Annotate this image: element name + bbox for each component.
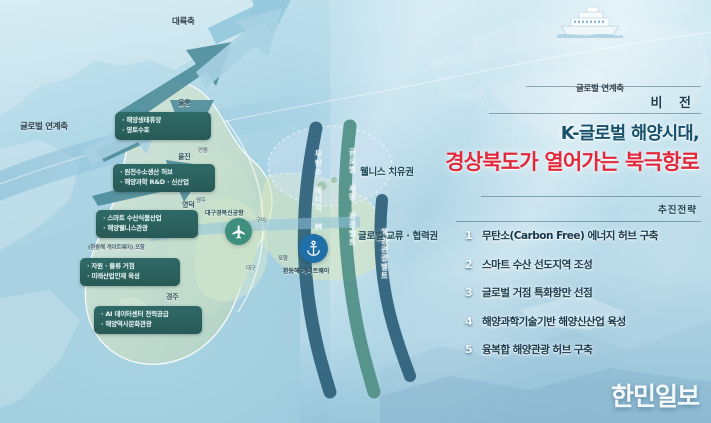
region-tag-ulleung: 울릉 xyxy=(178,98,190,108)
region-tag-yeongju: 영주 xyxy=(196,196,206,204)
belt-label-marine-tourism: 해양관광벨트 xyxy=(379,228,390,348)
callout-uljin[interactable]: 원전수소생산 허브 해양과학 R&D · 신산업 xyxy=(113,164,215,192)
strategy-item-3[interactable]: 3 글로벌 거점 특화항만 선점 xyxy=(465,285,705,300)
airplane-icon xyxy=(231,224,247,240)
callout-ulleung-line-2: 영토수호 xyxy=(122,126,204,136)
strategy-item-2[interactable]: 2 스마트 수산 선도지역 조성 xyxy=(465,257,705,272)
divider-above-strategy xyxy=(481,196,701,197)
vision-title-line-2: 경상북도가 열어가는 북극항로 xyxy=(445,146,699,176)
callout-uljin-line-2: 해양과학 R&D · 신산업 xyxy=(120,178,208,188)
callout-pohang-line-2: 미래산업인재 육성 xyxy=(87,272,173,282)
divider-below-vision xyxy=(489,113,701,114)
strategy-text-1: 무탄소(Carbon Free) 에너지 허브 구축 xyxy=(482,228,658,243)
callout-gyeongju-line-1: AI 데이터센터 전력공급 xyxy=(101,310,195,320)
gateway-city-label: 포항 xyxy=(278,254,288,262)
region-tag-gyeongju: 경주 xyxy=(166,292,178,302)
strategy-number-2: 2 xyxy=(465,258,482,271)
callout-pohang[interactable]: 자원 · 물류 거점 미래산업인재 육성 xyxy=(80,258,180,286)
region-tag-gumi: 구미 xyxy=(256,216,266,224)
gateway-label: 환동해 게이트웨이 xyxy=(283,266,329,275)
divider-below-strategy xyxy=(456,221,701,222)
strategy-number-5: 5 xyxy=(465,343,482,356)
strategy-heading: 추진전략 xyxy=(658,202,697,216)
anchor-icon xyxy=(305,240,322,257)
zone-label-wellness-healing: 웰니스 치유권 xyxy=(360,164,414,178)
strategy-text-5: 융복합 해양관광 허브 구축 xyxy=(482,342,592,357)
region-tag-uljin: 울진 xyxy=(178,152,190,162)
airport-label: 대구경북신공항 xyxy=(205,208,244,217)
gateway-badge[interactable] xyxy=(299,234,328,263)
cruise-ship-icon xyxy=(557,4,623,38)
zone-label-global-exchange-cooperation: 글로벌 교류 · 협력권 xyxy=(358,228,438,242)
infographic-root: 대륙축 글로벌 연계축 글로벌 연계축 울릉 울진 영덕 (환동해 게이트웨이)… xyxy=(0,0,711,423)
callout-yeongdeok-line-2: 해양웰니스관광 xyxy=(103,224,191,234)
vision-heading: 비 전 xyxy=(651,92,697,111)
strategy-text-4: 해양과학기술기반 해양신산업 육성 xyxy=(482,314,626,329)
label-continental-axis: 대륙축 xyxy=(172,15,195,27)
strategy-item-5[interactable]: 5 융복합 해양관광 허브 구축 xyxy=(465,342,705,357)
belt-label-global-sea-route-tourism: 글로벌 세망 관광벨트 xyxy=(347,148,358,338)
callout-gyeongju[interactable]: AI 데이터센터 전력공급 해양역사문화관광 xyxy=(94,306,202,334)
callout-uljin-line-1: 원전수소생산 허브 xyxy=(120,168,208,178)
label-global-link-axis-left: 글로벌 연계축 xyxy=(20,120,68,132)
airport-badge[interactable] xyxy=(225,218,252,245)
callout-gyeongju-line-2: 해양역사문화관광 xyxy=(101,320,195,330)
callout-ulleung[interactable]: 해양생태휴양 영토수호 xyxy=(115,112,211,140)
region-tag-yeongdeok: 영덕 xyxy=(182,200,194,210)
region-tag-andong: 안동 xyxy=(198,146,208,154)
callout-yeongdeok[interactable]: 스마트 수산식품산업 해양웰니스관광 xyxy=(96,210,198,238)
callout-yeongdeok-line-1: 스마트 수산식품산업 xyxy=(103,214,191,224)
strategy-text-2: 스마트 수산 선도지역 조성 xyxy=(482,257,592,272)
callout-ulleung-line-1: 해양생태휴양 xyxy=(122,116,204,126)
strategy-item-1[interactable]: 1 무탄소(Carbon Free) 에너지 허브 구축 xyxy=(465,228,705,243)
publisher-watermark: 한민일보 xyxy=(611,377,699,413)
strategy-number-3: 3 xyxy=(465,286,482,299)
strategy-list: 1 무탄소(Carbon Free) 에너지 허브 구축 2 스마트 수산 선도… xyxy=(465,228,705,371)
vision-title-line-1: K-글로벌 해양시대, xyxy=(561,120,699,145)
strategy-number-1: 1 xyxy=(465,229,482,242)
divider-above-vision xyxy=(526,86,701,87)
callout-pohang-line-1: 자원 · 물류 거점 xyxy=(87,262,173,272)
region-tag-daegu: 대구 xyxy=(246,264,256,272)
strategy-number-4: 4 xyxy=(465,315,482,328)
region-tag-pohang: (환동해 게이트웨이) 포항 xyxy=(88,243,145,251)
strategy-item-4[interactable]: 4 해양과학기술기반 해양신산업 육성 xyxy=(465,314,705,329)
label-global-link-axis-right: 글로벌 연계축 xyxy=(576,82,624,94)
strategy-text-3: 글로벌 거점 특화항만 선점 xyxy=(482,285,592,300)
